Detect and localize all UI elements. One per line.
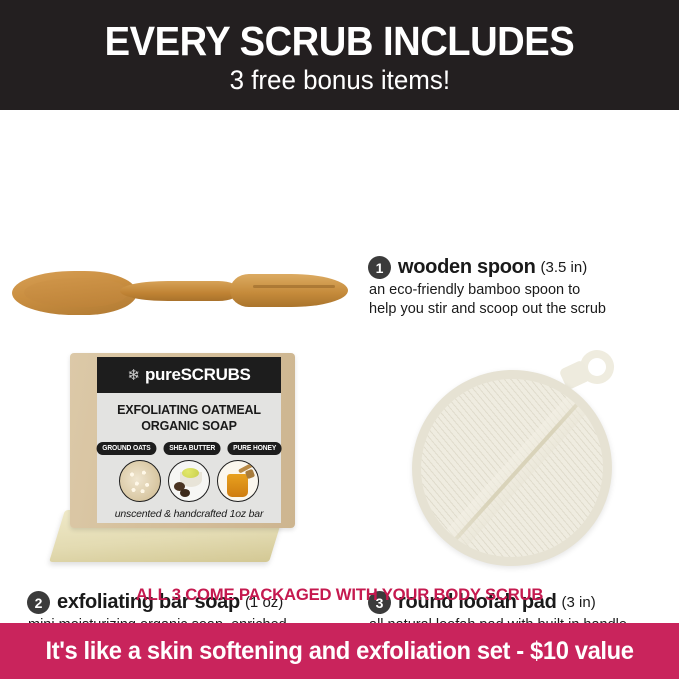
loofah-pad-body [399, 357, 624, 579]
spoon-neck [120, 281, 240, 301]
item-1-number-badge: 1 [368, 256, 391, 279]
shea-butter-photo-icon [168, 460, 210, 502]
header-banner: EVERY SCRUB INCLUDES 3 free bonus items! [0, 0, 679, 110]
ingredient-photo-row [119, 460, 259, 502]
soap-brand-bar: ❄ pureSCRUBS [97, 357, 281, 393]
ingredient-badge-honey: PURE HONEY [227, 442, 281, 455]
ingredient-badge-shea: SHEA BUTTER [163, 442, 220, 455]
item-1-qty: (3.5 in) [541, 259, 588, 276]
value-footer-bar: It's like a skin softening and exfoliati… [0, 623, 679, 679]
item-1-heading: 1 wooden spoon (3.5 in) [368, 256, 606, 279]
mandala-icon: ❄ [127, 368, 140, 383]
ingredient-badge-oats: GROUND OATS [96, 442, 156, 455]
spoon-bowl-inner [24, 278, 128, 307]
spoon-bowl [12, 271, 137, 315]
ingredient-badge-row: GROUND OATS SHEA BUTTER PURE HONEY [95, 442, 284, 455]
oats-photo-icon [119, 460, 161, 502]
honey-photo-icon [217, 460, 259, 502]
content-area: 1 wooden spoon (3.5 in) an eco-friendly … [0, 110, 679, 575]
soap-heading-line-1: EXFOLIATING OATMEAL [117, 402, 261, 418]
header-subtitle: 3 free bonus items! [229, 66, 449, 94]
soap-heading-line-2: ORGANIC SOAP [117, 418, 261, 434]
header-title: EVERY SCRUB INCLUDES [105, 21, 575, 63]
soap-box: ❄ pureSCRUBS EXFOLIATING OATMEAL ORGANIC… [70, 353, 295, 528]
spoon-grain-line [253, 285, 335, 288]
item-1-desc-line-2: help you stir and scoop out the scrub [369, 300, 606, 319]
item-1-title: wooden spoon [398, 256, 536, 279]
loofah-diagonal-seam [439, 376, 603, 557]
loofah-pad-image [404, 348, 654, 573]
spoon-handle [230, 274, 348, 307]
soap-product-heading: EXFOLIATING OATMEAL ORGANIC SOAP [117, 402, 261, 434]
soap-brand-name: pureSCRUBS [145, 365, 251, 385]
value-footer-text: It's like a skin softening and exfoliati… [45, 637, 633, 666]
shea-nut-shape-2 [180, 489, 190, 497]
item-1-desc-line-1: an eco-friendly bamboo spoon to [369, 281, 606, 300]
honey-dipper-head [245, 469, 255, 479]
packaging-note: ALL 3 COME PACKAGED WITH YOUR BODY SCRUB [7, 575, 672, 605]
item-1-text-block: 1 wooden spoon (3.5 in) an eco-friendly … [368, 256, 606, 320]
soap-label-footer: unscented & handcrafted 1oz bar [115, 508, 264, 520]
wooden-spoon-image [8, 262, 353, 324]
bar-soap-image: ❄ pureSCRUBS EXFOLIATING OATMEAL ORGANIC… [57, 353, 307, 568]
soap-label: ❄ pureSCRUBS EXFOLIATING OATMEAL ORGANIC… [97, 357, 281, 523]
